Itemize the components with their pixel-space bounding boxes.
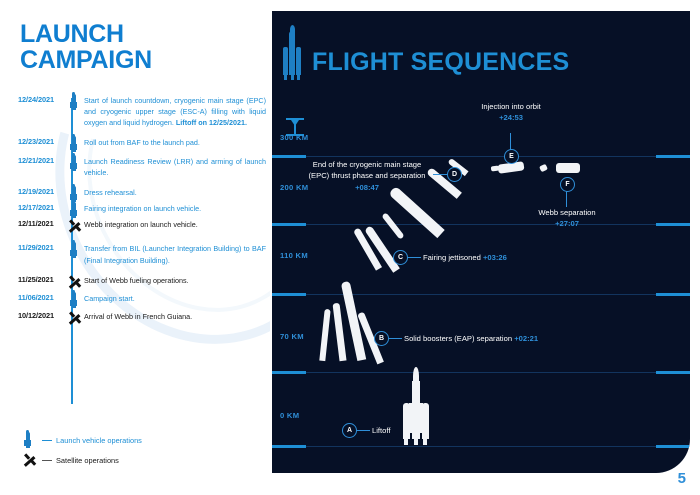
event-badge-e[interactable]: E: [504, 149, 519, 164]
event-leader-e: [510, 133, 511, 150]
altitude-cap-left: [272, 155, 306, 158]
timeline-entry-text: Start of Webb fueling operations.: [84, 274, 270, 286]
webb-spacecraft-sprite: [556, 163, 580, 173]
event-time-e: +24:53: [452, 112, 570, 123]
timeline-entry-date: 11/29/2021: [18, 242, 68, 265]
event-label-c: Fairing jettisoned +03:26: [423, 252, 507, 263]
legend-item-satellite: Satellite operations: [20, 450, 142, 470]
timeline-entry-text-body: Arrival of Webb in French Guiana.: [84, 312, 192, 321]
legend-dash: [42, 440, 52, 441]
launch-vehicle-on-pad-sprite: [396, 373, 436, 445]
timeline-entry-date: 12/21/2021: [18, 155, 68, 178]
altitude-cap-right: [656, 445, 690, 448]
timeline-entry-text-emphasis: Liftoff on 12/25/2021.: [176, 118, 247, 127]
launch-campaign-panel: LAUNCH CAMPAIGN 12/24/2021Start of launc…: [0, 0, 270, 495]
altitude-cap-right: [656, 293, 690, 296]
timeline-entry: 12/11/2021Webb integration on launch veh…: [18, 218, 270, 230]
timeline-entry-text-body: Webb integration on launch vehicle.: [84, 220, 198, 229]
flight-sequences-title: FLIGHT SEQUENCES: [312, 48, 569, 77]
launch-vehicle-rocket-icon: [68, 242, 84, 265]
event-label-e: Injection into orbit +24:53: [452, 101, 570, 124]
event-leader-f: [566, 190, 567, 207]
timeline-entry-date: 12/11/2021: [18, 218, 68, 230]
timeline-entry-date: 12/17/2021: [18, 202, 68, 214]
altitude-line-0km-top: [272, 372, 690, 373]
timeline-entry-text-body: Transfer from BIL (Launcher Integration …: [84, 244, 266, 264]
legend-item-launch-vehicle: Launch vehicle operations: [20, 430, 142, 450]
timeline-entry-date: 12/19/2021: [18, 186, 68, 198]
timeline-entry-date: 12/24/2021: [18, 94, 68, 128]
timeline-entry-text-body: Start of Webb fueling operations.: [84, 276, 189, 285]
timeline-entry-text-body: Dress rehearsal.: [84, 188, 137, 197]
page-title-line-1: LAUNCH: [20, 22, 152, 48]
timeline-entry: 12/21/2021Launch Readiness Review (LRR) …: [18, 155, 270, 178]
launch-vehicle-rocket-icon: [68, 94, 84, 128]
altitude-cap-left: [272, 445, 306, 448]
altitude-cap-right: [656, 223, 690, 226]
event-label-b: Solid boosters (EAP) separation +02:21: [404, 333, 538, 344]
event-leader-d: [433, 174, 447, 175]
event-badge-a[interactable]: A: [342, 423, 357, 438]
timeline-entry-text: Campaign start.: [84, 292, 270, 304]
event-badge-d[interactable]: D: [447, 167, 462, 182]
event-leader-a: [356, 430, 370, 431]
event-time-f: +27:07: [512, 218, 622, 229]
timeline-entry: 12/23/2021Roll out from BAF to the launc…: [18, 136, 270, 148]
timeline-entry: 12/17/2021Fairing integration on launch …: [18, 202, 270, 214]
timeline-entry-date: 12/23/2021: [18, 136, 68, 148]
altitude-label-70km: 70 KM: [280, 332, 304, 341]
satellite-icon: [68, 310, 84, 322]
event-time-c: +03:26: [483, 253, 507, 262]
timeline-entry-text: Arrival of Webb in French Guiana.: [84, 310, 270, 322]
event-badge-b[interactable]: B: [374, 331, 389, 346]
timeline-entry: 11/29/2021Transfer from BIL (Launcher In…: [18, 242, 270, 265]
timeline-entry-text: Fairing integration on launch vehicle.: [84, 202, 270, 214]
timeline-entry-text-body: Launch Readiness Review (LRR) and arming…: [84, 157, 266, 177]
altitude-cap-left: [272, 223, 306, 226]
timeline-entry-text-body: Campaign start.: [84, 294, 135, 303]
altitude-label-0km: 0 KM: [280, 411, 299, 420]
satellite-icon: [20, 451, 42, 469]
timeline-entry: 11/25/2021Start of Webb fueling operatio…: [18, 274, 270, 286]
altitude-cap-left: [272, 293, 306, 296]
altitude-line-110km: [272, 224, 690, 225]
altitude-cap-right: [656, 155, 690, 158]
timeline-entry: 11/06/2021Campaign start.: [18, 292, 270, 304]
altitude-label-110km: 110 KM: [280, 251, 308, 260]
legend-label-satellite: Satellite operations: [56, 456, 119, 465]
launch-vehicle-rocket-icon: [68, 136, 84, 148]
timeline-entry: 12/24/2021Start of launch countdown, cry…: [18, 94, 270, 128]
event-time-b: +02:21: [514, 334, 538, 343]
event-label-a: Liftoff: [372, 425, 390, 436]
altitude-label-300km: 300 KM: [280, 133, 308, 142]
legend-label-launch-vehicle: Launch vehicle operations: [56, 436, 142, 445]
launch-vehicle-rocket-icon: [68, 155, 84, 178]
timeline-entry-date: 11/06/2021: [18, 292, 68, 304]
timeline-entry-text-body: Roll out from BAF to the launch pad.: [84, 138, 200, 147]
timeline-entry-text: Roll out from BAF to the launch pad.: [84, 136, 270, 148]
altitude-cap-left: [272, 371, 306, 374]
legend-dash: [42, 460, 52, 461]
ariane-rocket-icon: [281, 29, 303, 89]
event-label-d: End of the cryogenic main stage (EPC) th…: [302, 159, 432, 193]
booster-sprite-1: [319, 309, 330, 361]
page-number: 5: [678, 470, 686, 487]
legend: Launch vehicle operations Satellite oper…: [20, 430, 142, 470]
launch-vehicle-rocket-icon: [68, 292, 84, 304]
timeline-entry-text-body: Fairing integration on launch vehicle.: [84, 204, 201, 213]
fairing-fragment-sprite: [381, 212, 404, 239]
campaign-timeline: 12/24/2021Start of launch countdown, cry…: [18, 94, 270, 326]
timeline-entry-date: 11/25/2021: [18, 274, 68, 286]
timeline-entry-date: 10/12/2021: [18, 310, 68, 322]
event-label-f: Webb separation +27:07: [512, 207, 622, 230]
satellite-icon: [68, 218, 84, 230]
page-title-line-2: CAMPAIGN: [20, 48, 152, 74]
satellite-icon: [68, 274, 84, 286]
launch-vehicle-rocket-icon: [20, 431, 42, 449]
launch-vehicle-rocket-icon: [68, 202, 84, 214]
altitude-line-ground: [272, 446, 690, 447]
altitude-line-200km: [272, 156, 690, 157]
flight-sequences-panel: FLIGHT SEQUENCES 300 KM 200 KM 110 KM 70…: [272, 11, 690, 473]
timeline-entry-text: Transfer from BIL (Launcher Integration …: [84, 242, 270, 265]
page-title: LAUNCH CAMPAIGN: [20, 22, 152, 73]
altitude-cap-right: [656, 371, 690, 374]
timeline-entry-text: Start of launch countdown, cryogenic mai…: [84, 94, 270, 128]
timeline-entry: 12/19/2021Dress rehearsal.: [18, 186, 270, 198]
event-leader-b: [388, 338, 402, 339]
timeline-entry: 10/12/2021Arrival of Webb in French Guia…: [18, 310, 270, 322]
altitude-line-70km: [272, 294, 690, 295]
event-leader-c: [407, 257, 421, 258]
launch-vehicle-rocket-icon: [68, 186, 84, 198]
event-badge-f[interactable]: F: [560, 177, 575, 192]
timeline-entry-text: Dress rehearsal.: [84, 186, 270, 198]
timeline-entry-text: Launch Readiness Review (LRR) and arming…: [84, 155, 270, 178]
separated-adapter-sprite: [539, 164, 548, 172]
timeline-entry-text: Webb integration on launch vehicle.: [84, 218, 270, 230]
booster-sprite-2: [332, 303, 346, 361]
event-badge-c[interactable]: C: [393, 250, 408, 265]
event-time-d: +08:47: [302, 182, 432, 193]
